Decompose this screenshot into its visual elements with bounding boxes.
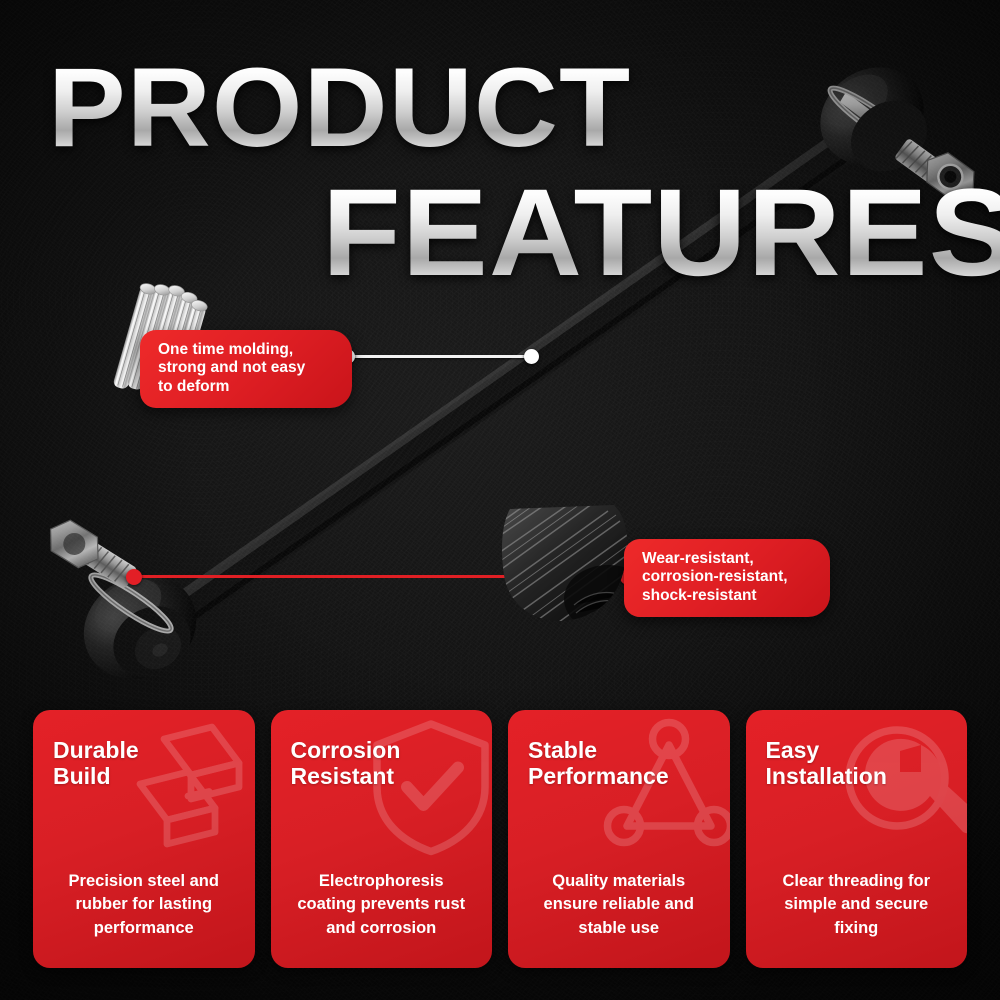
feature-card-durable-build[interactable]: Durable Build Precision steel and rubber…	[33, 710, 255, 968]
product-features-infographic: PRODUCT FEATURES	[0, 0, 1000, 1000]
callout-one-time-molding: One time molding, strong and not easy to…	[140, 330, 352, 408]
connector-line	[346, 355, 532, 358]
card-title: Durable Build	[49, 738, 239, 790]
connector-dot-start	[126, 569, 142, 585]
feature-card-easy-installation[interactable]: Easy Installation Clear threading for si…	[746, 710, 968, 968]
callout-1-connector	[340, 349, 540, 365]
page-title-product: PRODUCT	[48, 56, 631, 159]
card-body: Precision steel and rubber for lasting p…	[49, 870, 239, 950]
card-body: Electrophoresis coating prevents rust an…	[287, 870, 477, 950]
card-title: Corrosion Resistant	[287, 738, 477, 790]
connector-dot-end	[524, 349, 539, 364]
feature-card-corrosion-resistant[interactable]: Corrosion Resistant Electrophoresis coat…	[271, 710, 493, 968]
feature-card-stable-performance[interactable]: Stable Performance Quality materials ens…	[508, 710, 730, 968]
callout-wear-resistant: Wear-resistant, corrosion-resistant, sho…	[624, 539, 830, 617]
page-title-features: FEATURES	[322, 176, 1000, 290]
card-title: Stable Performance	[524, 738, 714, 790]
feature-cards-row: Durable Build Precision steel and rubber…	[33, 710, 967, 968]
rubber-boot-closeup-image	[496, 503, 638, 625]
card-title: Easy Installation	[762, 738, 952, 790]
card-body: Quality materials ensure reliable and st…	[524, 870, 714, 950]
card-body: Clear threading for simple and secure fi…	[762, 870, 952, 950]
